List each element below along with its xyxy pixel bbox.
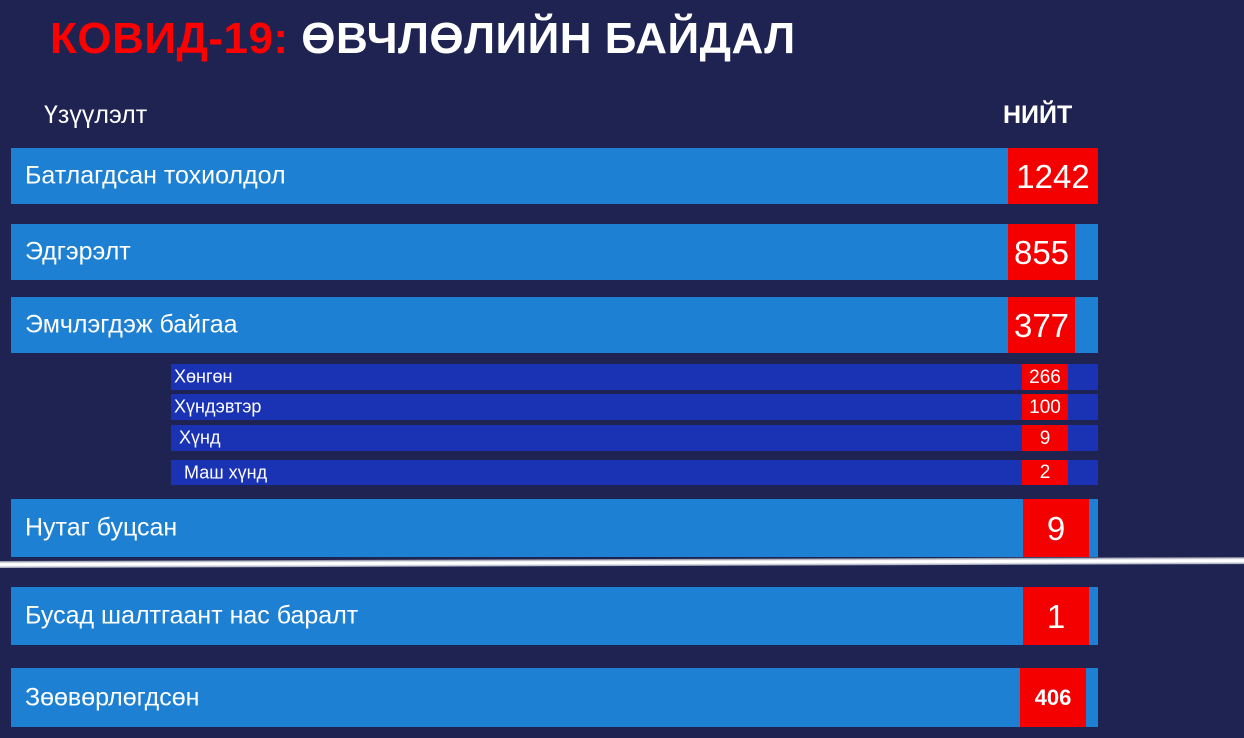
subrow-value: 9 — [1022, 425, 1068, 451]
row-label: Эдгэрэлт — [25, 238, 131, 267]
row-value: 1242 — [1008, 148, 1098, 204]
table-subrow[interactable]: Хүнд 9 — [171, 425, 1098, 451]
subrow-label: Маш хүнд — [184, 462, 267, 483]
row-value: 855 — [1008, 224, 1075, 280]
subrow-value: 100 — [1022, 394, 1068, 420]
table-row[interactable]: Эдгэрэлт 855 — [11, 224, 1098, 280]
table-subrow[interactable]: Хөнгөн 266 — [171, 364, 1098, 390]
subrow-label: Хүндэвтэр — [174, 397, 261, 418]
column-header-total: НИЙТ — [1003, 101, 1072, 130]
table-row[interactable]: Эмчлэгдэж байгаа 377 — [11, 297, 1098, 353]
title-accent: КОВИД-19: — [50, 14, 289, 63]
table-row[interactable]: Бусад шалтгаант нас баралт 1 — [11, 587, 1098, 645]
title-rest: ӨВЧЛӨЛИЙН БАЙДАЛ — [289, 14, 796, 63]
row-label: Зөөвөрлөгдсөн — [25, 683, 199, 712]
table-subrow[interactable]: Маш хүнд 2 — [171, 460, 1098, 485]
subrow-label: Хөнгөн — [174, 367, 232, 388]
row-value: 1 — [1023, 587, 1089, 645]
subrow-value: 266 — [1022, 364, 1068, 390]
row-value: 9 — [1023, 499, 1089, 557]
table-row[interactable]: Батлагдсан тохиолдол 1242 — [11, 148, 1098, 204]
row-label: Эмчлэгдэж байгаа — [25, 311, 238, 340]
column-header-metric: Үзүүлэлт — [44, 101, 147, 130]
subrow-label: Хүнд — [179, 428, 220, 449]
row-label: Бусад шалтгаант нас баралт — [25, 602, 358, 631]
row-label: Нутаг буцсан — [25, 514, 177, 543]
row-label: Батлагдсан тохиолдол — [25, 162, 286, 191]
row-value: 406 — [1020, 668, 1086, 727]
divider-line — [0, 557, 1244, 568]
table-row[interactable]: Зөөвөрлөгдсөн 406 — [11, 668, 1098, 727]
table-row[interactable]: Нутаг буцсан 9 — [11, 499, 1098, 557]
row-value: 377 — [1008, 297, 1075, 353]
table-subrow[interactable]: Хүндэвтэр 100 — [171, 394, 1098, 420]
subrow-value: 2 — [1022, 460, 1068, 485]
page-title: КОВИД-19: ӨВЧЛӨЛИЙН БАЙДАЛ — [50, 14, 796, 64]
